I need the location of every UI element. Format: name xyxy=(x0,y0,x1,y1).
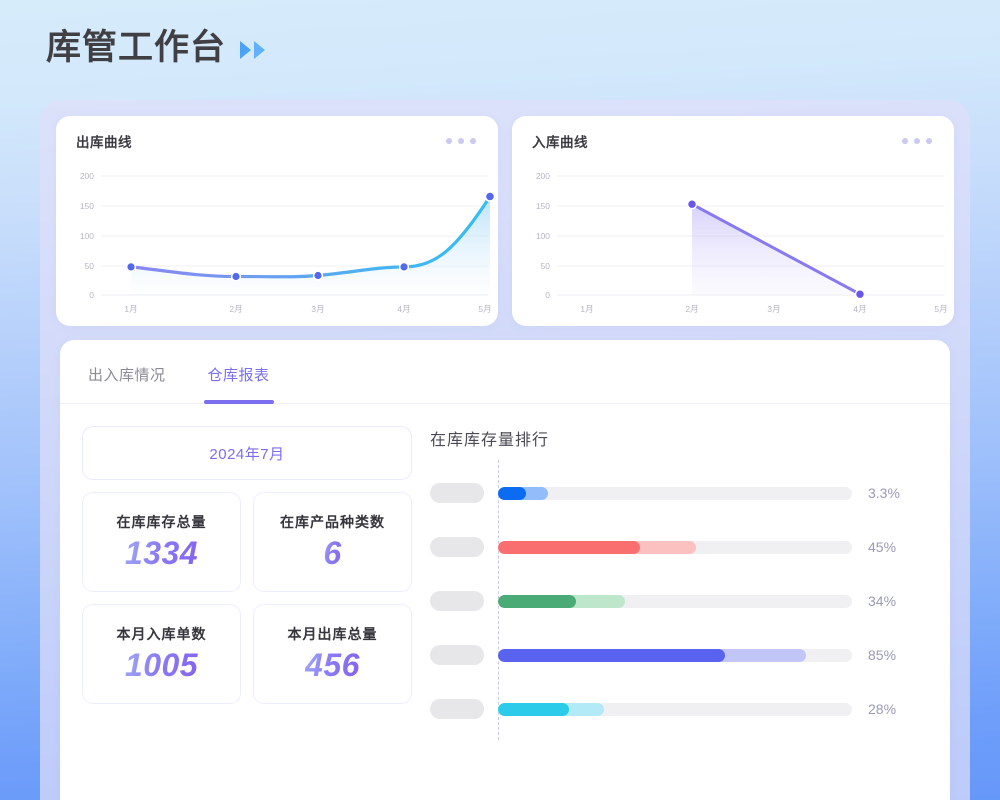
outbound-line-chart-svg xyxy=(56,154,498,326)
outbound-chart-plot: 200 150 100 50 0 1月 2月 3月 4月 5月 xyxy=(56,154,498,326)
date-label: 2024年7月 xyxy=(209,443,284,464)
y-tick-150: 150 xyxy=(64,201,94,211)
x-tick-jan: 1月 xyxy=(116,303,146,315)
inbound-line-chart-svg xyxy=(512,154,954,326)
ranking-row-percent: 28% xyxy=(868,701,922,717)
ranking-row-fill-main xyxy=(498,541,640,554)
y-tick-200: 200 xyxy=(64,171,94,181)
date-selector-card[interactable]: 2024年7月 xyxy=(82,426,412,480)
ranking-row[interactable]: 28% xyxy=(430,682,922,736)
ranking-row-percent: 85% xyxy=(868,647,922,663)
charts-row: 出库曲线 xyxy=(56,116,954,326)
triangle-right-icon-2 xyxy=(254,41,265,59)
tab-inbound-outbound[interactable]: 出入库情况 xyxy=(88,364,166,403)
stat-label: 本月入库单数 xyxy=(117,624,207,644)
stat-label: 在库库存总量 xyxy=(117,512,207,532)
more-dots-icon[interactable] xyxy=(446,138,480,144)
x-tick-apr: 4月 xyxy=(845,303,875,315)
y-tick-50: 50 xyxy=(520,261,550,271)
ranking-rows: 3.3% 45% xyxy=(430,466,922,736)
ranking-row-fill-main xyxy=(498,703,569,716)
stats-column: 2024年7月 在库库存总量 1334 在库产品种类数 6 本月入库单数 100… xyxy=(60,426,412,736)
report-body: 2024年7月 在库库存总量 1334 在库产品种类数 6 本月入库单数 100… xyxy=(60,404,950,736)
report-card: 出入库情况 仓库报表 2024年7月 在库库存总量 1334 在库产品种类数 6 xyxy=(60,340,950,800)
page-header: 库管工作台 xyxy=(46,30,265,65)
main-panel: 出库曲线 xyxy=(40,100,970,800)
stat-value: 1334 xyxy=(125,536,198,571)
ranking-row-percent: 3.3% xyxy=(868,485,922,501)
x-tick-mar: 3月 xyxy=(303,303,333,315)
stat-card-outbound-total[interactable]: 本月出库总量 456 xyxy=(253,604,412,704)
ranking-row-fill-main xyxy=(498,487,526,500)
ranking-row-fill-main xyxy=(498,595,576,608)
inbound-chart-title: 入库曲线 xyxy=(532,131,588,151)
stat-grid: 在库库存总量 1334 在库产品种类数 6 本月入库单数 1005 本月出库总量… xyxy=(82,492,412,704)
x-tick-apr: 4月 xyxy=(389,303,419,315)
x-tick-may: 5月 xyxy=(926,303,956,315)
more-dots-icon[interactable] xyxy=(902,138,936,144)
ranking-row[interactable]: 34% xyxy=(430,574,922,628)
ranking-row-percent: 34% xyxy=(868,593,922,609)
double-triangle-right-icon xyxy=(240,36,265,59)
ranking-row-label-placeholder xyxy=(430,699,484,719)
y-tick-0: 0 xyxy=(520,290,550,300)
stat-label: 在库产品种类数 xyxy=(280,512,385,532)
y-tick-50: 50 xyxy=(64,261,94,271)
stat-label: 本月出库总量 xyxy=(288,624,378,644)
ranking-row-percent: 45% xyxy=(868,539,922,555)
x-tick-jan: 1月 xyxy=(572,303,602,315)
inbound-chart-card: 入库曲线 xyxy=(512,116,954,326)
ranking-row[interactable]: 45% xyxy=(430,520,922,574)
ranking-column: 在库库存量排行 3.3% xyxy=(412,426,950,736)
ranking-row-track xyxy=(498,649,852,662)
tab-warehouse-report[interactable]: 仓库报表 xyxy=(208,364,270,403)
outbound-chart-header: 出库曲线 xyxy=(56,116,498,151)
ranking-title: 在库库存量排行 xyxy=(430,426,922,450)
inbound-chart-plot: 200 150 100 50 0 1月 2月 3月 4月 5月 xyxy=(512,154,954,326)
outbound-chart-title: 出库曲线 xyxy=(76,131,132,151)
stat-value: 1005 xyxy=(125,648,198,683)
stat-card-product-types[interactable]: 在库产品种类数 6 xyxy=(253,492,412,592)
ranking-row-track xyxy=(498,541,852,554)
ranking-row-track xyxy=(498,595,852,608)
ranking-row-label-placeholder xyxy=(430,537,484,557)
outbound-chart-card: 出库曲线 xyxy=(56,116,498,326)
x-tick-may: 5月 xyxy=(470,303,500,315)
stat-value: 456 xyxy=(305,648,360,683)
inbound-chart-header: 入库曲线 xyxy=(512,116,954,151)
stat-value: 6 xyxy=(323,536,341,571)
ranking-row-label-placeholder xyxy=(430,483,484,503)
triangle-right-icon-1 xyxy=(240,41,251,59)
x-tick-mar: 3月 xyxy=(759,303,789,315)
y-tick-150: 150 xyxy=(520,201,550,211)
y-tick-100: 100 xyxy=(64,231,94,241)
ranking-row-track xyxy=(498,703,852,716)
ranking-row-fill-main xyxy=(498,649,725,662)
stat-card-total-stock[interactable]: 在库库存总量 1334 xyxy=(82,492,241,592)
ranking-row[interactable]: 85% xyxy=(430,628,922,682)
stat-card-inbound-orders[interactable]: 本月入库单数 1005 xyxy=(82,604,241,704)
ranking-row[interactable]: 3.3% xyxy=(430,466,922,520)
ranking-row-track xyxy=(498,487,852,500)
report-tabs: 出入库情况 仓库报表 xyxy=(60,340,950,404)
ranking-row-label-placeholder xyxy=(430,645,484,665)
y-tick-0: 0 xyxy=(64,290,94,300)
x-tick-feb: 2月 xyxy=(221,303,251,315)
x-tick-feb: 2月 xyxy=(677,303,707,315)
ranking-row-label-placeholder xyxy=(430,591,484,611)
page-title: 库管工作台 xyxy=(46,30,226,65)
y-tick-200: 200 xyxy=(520,171,550,181)
y-tick-100: 100 xyxy=(520,231,550,241)
